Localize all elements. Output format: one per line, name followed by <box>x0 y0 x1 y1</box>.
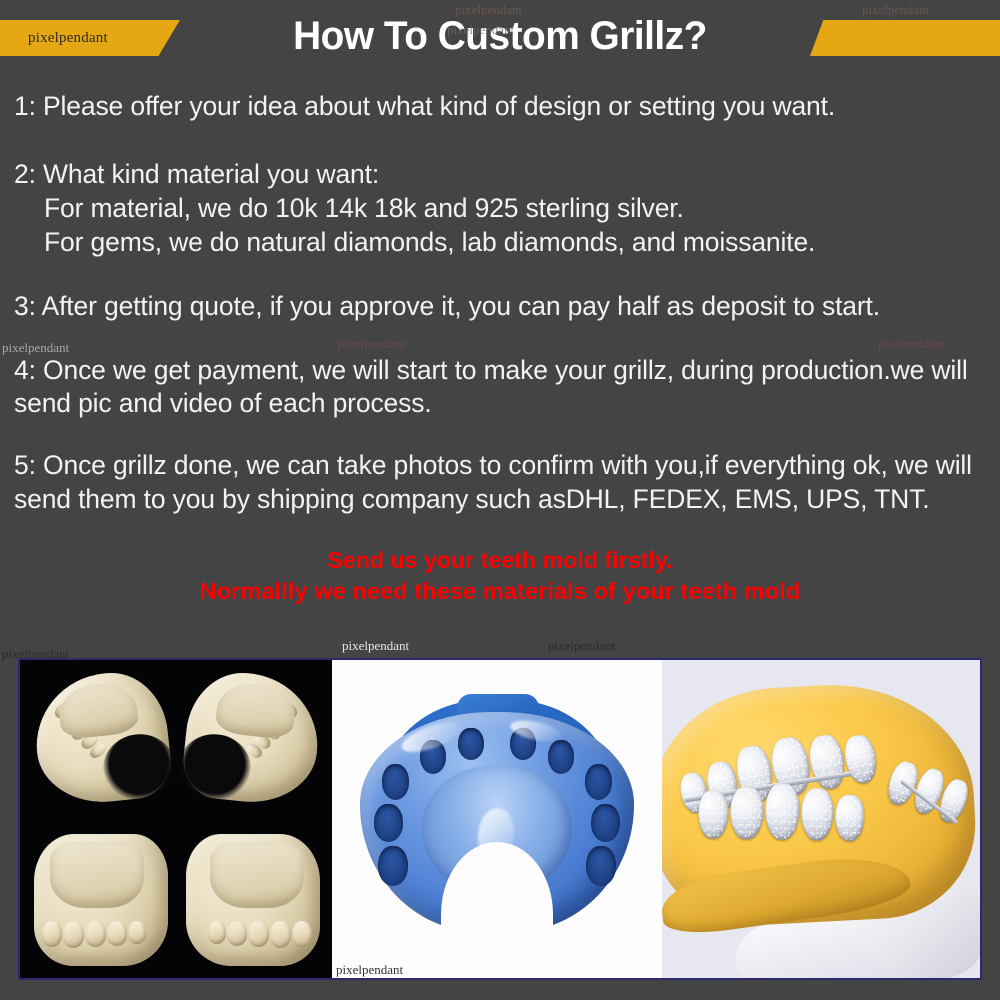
panel-blue-impression <box>332 660 662 978</box>
mold-callout-line-1: Send us your teeth mold firstly. <box>0 545 1000 576</box>
step-2-detail-material: For material, we do 10k 14k 18k and 925 … <box>14 192 986 226</box>
grillz-side-row <box>883 756 973 825</box>
step-1: 1: Please offer your idea about what kin… <box>0 90 1000 124</box>
plaster-cast-upper-right <box>180 667 325 808</box>
tooth-socket <box>382 764 409 800</box>
plaster-cast-lower-left <box>34 834 168 966</box>
yellow-dental-model <box>662 678 980 930</box>
tooth-socket <box>585 764 612 800</box>
panel-diamond-grillz <box>662 660 980 978</box>
cast-palate <box>214 680 297 740</box>
cast-palate <box>210 842 304 908</box>
watermark: pixelpendant <box>548 638 615 654</box>
tooth-socket <box>591 804 620 842</box>
cast-tooth-row <box>208 921 312 948</box>
step-1-line-1: 1: Please offer your idea about what kin… <box>14 91 835 121</box>
cast-palate <box>50 842 144 908</box>
tooth-socket <box>378 846 408 886</box>
impression-body <box>360 712 634 932</box>
mold-callout: Send us your teeth mold firstly. Normall… <box>0 545 1000 607</box>
tooth-socket <box>374 804 403 842</box>
step-4: 4: Once we get payment, we will start to… <box>0 354 1000 422</box>
plaster-cast-upper-left <box>30 667 175 808</box>
page-header: pixelpendant How To Custom Grillz? <box>0 0 1000 62</box>
step-3-line-1: 3: After getting quote, if you approve i… <box>14 291 880 321</box>
panel-plaster-casts <box>20 660 332 978</box>
blue-impression-tray <box>354 694 640 944</box>
instructions-body: 1: Please offer your idea about what kin… <box>0 62 1000 607</box>
step-5: 5: Once grillz done, we can take photos … <box>0 449 1000 517</box>
step-5-line-1: 5: Once grillz done, we can take photos … <box>14 450 972 514</box>
page-root: pixelpendant How To Custom Grillz? 1: Pl… <box>0 0 1000 1000</box>
grillz-lower-row <box>698 782 865 841</box>
tooth-socket <box>458 728 484 760</box>
page-title: How To Custom Grillz? <box>15 14 985 59</box>
cast-palate <box>57 680 140 740</box>
tooth-socket <box>586 846 616 886</box>
tooth-socket <box>548 740 574 774</box>
mold-callout-line-2: Normallly we need these materials of you… <box>0 576 1000 607</box>
step-2-detail-gems: For gems, we do natural diamonds, lab di… <box>14 226 986 260</box>
step-4-line-1: 4: Once we get payment, we will start to… <box>14 355 968 419</box>
watermark: pixelpendant <box>342 638 409 654</box>
cast-tooth-row <box>42 921 146 948</box>
step-2-line-1: 2: What kind material you want: <box>14 159 379 189</box>
gallery-strip <box>18 658 982 980</box>
cast-arch-hollow <box>100 731 179 804</box>
step-2: 2: What kind material you want: For mate… <box>0 158 1000 260</box>
plaster-cast-lower-right <box>186 834 320 966</box>
step-3: 3: After getting quote, if you approve i… <box>0 290 1000 324</box>
cast-arch-hollow <box>175 731 254 804</box>
